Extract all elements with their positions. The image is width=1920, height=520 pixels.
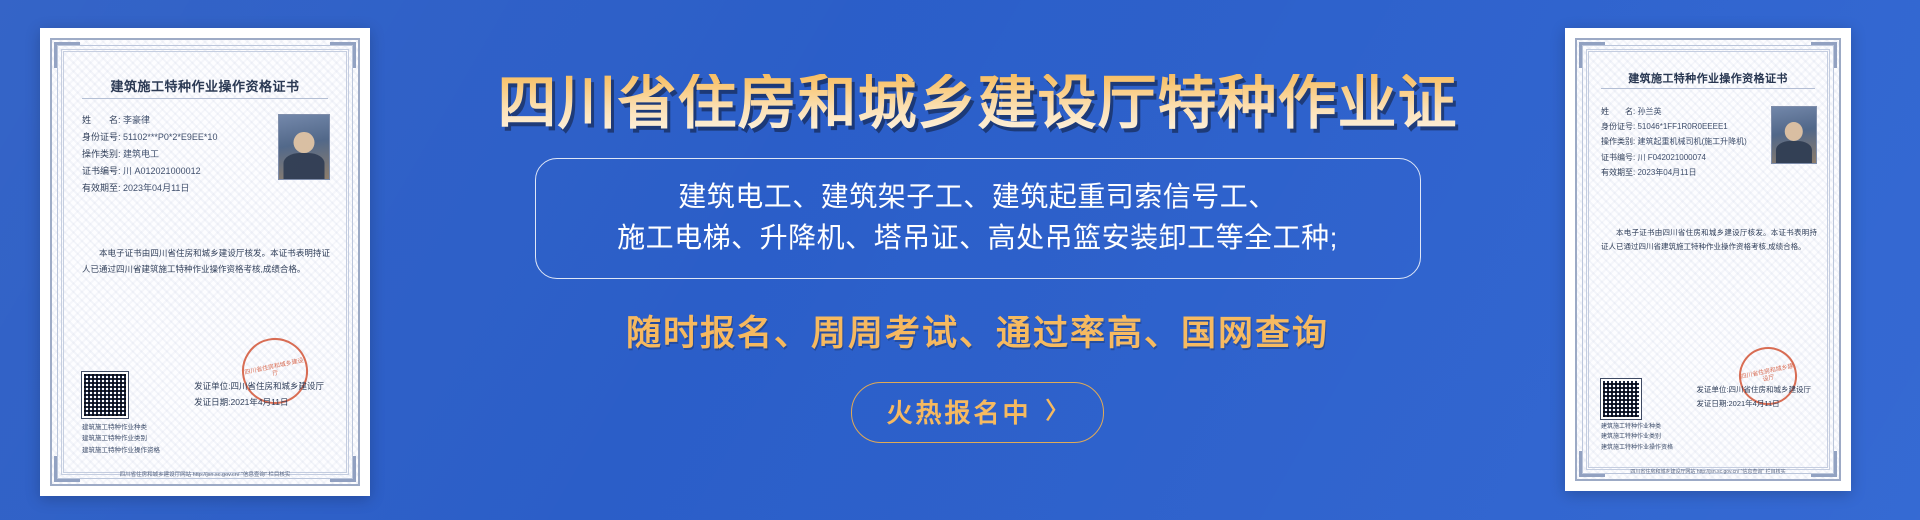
field-row: 有效期至: 2023年04月11日 [1601,165,1747,180]
portrait-photo [1771,106,1817,164]
enroll-now-label: 火热报名中 [886,393,1031,430]
field-row: 操作类别: 建筑起重机械司机(施工升降机) [1601,134,1747,149]
issuer-label: 发证单位: [194,381,230,391]
note-line: 建筑施工特种作业种类 [1601,422,1851,433]
issuer-value: 四川省住房和城乡建设厅 [230,381,324,391]
note-line: 建筑施工特种作业类别 [82,433,370,444]
field-label: 姓 名: [82,115,121,125]
corner-ornament-icon [1579,42,1605,68]
note-line: 建筑施工特种作业操作资格 [82,445,370,456]
issuer-row: 发证单位:四川省住房和城乡建设厅 [1696,383,1811,397]
field-row: 操作类别: 建筑电工 [82,146,217,163]
field-value: 川 A012021000012 [123,166,201,176]
corner-ornament-icon [54,456,80,482]
field-row: 证书编号: 川 F042021000074 [1601,150,1747,165]
field-value: 2023年04月11日 [123,183,189,193]
certificate-footer: 四川省住房和城乡建设厅网站 http://jsn.sc.gov.cn/ "信息查… [1565,468,1851,475]
certificate-body-text: 本电子证书由四川省住房和城乡建设厅核发。本证书表明持证人已通过四川省建筑施工特种… [1601,226,1817,254]
field-value: 51102***P0*2*E9EE*10 [123,132,217,142]
scope-box: 建筑电工、建筑架子工、建筑起重司索信号工、 施工电梯、升降机、塔吊证、高处吊篮安… [535,158,1421,279]
issue-date-row: 发证日期:2021年4月11日 [1696,397,1811,411]
field-label: 操作类别: [82,149,121,159]
qr-code-icon [82,372,128,418]
field-row: 姓 名: 孙兰英 [1601,104,1747,119]
field-label: 有效期至: [1601,168,1635,177]
certificate-fields: 姓 名: 孙兰英 身份证号: 51046*1FF1R0R0EEEE1 操作类别:… [1601,104,1747,180]
divider [82,98,328,99]
enroll-now-button[interactable]: 火热报名中 〉 [851,382,1103,443]
field-value: 川 F042021000074 [1637,153,1706,162]
corner-ornament-icon [330,42,356,68]
field-value: 51046*1FF1R0R0EEEE1 [1637,122,1727,131]
note-line: 建筑施工特种作业种类 [82,422,370,433]
issue-date-value: 2021年4月11日 [230,397,288,407]
field-label: 有效期至: [82,183,121,193]
issuer-label: 发证单位: [1696,385,1728,394]
note-line: 建筑施工特种作业类别 [1601,432,1851,443]
certificate-title: 建筑施工特种作业操作资格证书 [1565,70,1851,86]
corner-ornament-icon [330,456,356,482]
issue-date-label: 发证日期: [1696,399,1728,408]
promotional-banner: 建筑施工特种作业操作资格证书 姓 名: 李豪律 身份证号: 51102***P0… [0,0,1920,520]
corner-ornament-icon [54,42,80,68]
divider [1601,88,1815,89]
scope-line-1: 建筑电工、建筑架子工、建筑起重司索信号工、 [556,176,1400,217]
certificate-card-right: 建筑施工特种作业操作资格证书 姓 名: 孙兰英 身份证号: 51046*1FF1… [1565,28,1851,491]
portrait-photo [278,114,330,180]
scope-line-2: 施工电梯、升降机、塔吊证、高处吊篮安装卸工等全工种; [556,217,1400,258]
chevron-right-icon: 〉 [1046,399,1069,422]
qr-code-icon [1601,379,1641,419]
issuer-row: 发证单位:四川省住房和城乡建设厅 [194,378,324,394]
issue-date-row: 发证日期:2021年4月11日 [194,394,324,410]
field-row: 身份证号: 51046*1FF1R0R0EEEE1 [1601,119,1747,134]
field-row: 姓 名: 李豪律 [82,112,217,129]
field-label: 姓 名: [1601,107,1635,116]
field-value: 李豪律 [123,115,150,125]
field-value: 建筑起重机械司机(施工升降机) [1637,137,1746,146]
note-line: 建筑施工特种作业操作资格 [1601,443,1851,454]
certificate-notes: 建筑施工特种作业种类 建筑施工特种作业类别 建筑施工特种作业操作资格 [82,422,370,456]
issue-date-label: 发证日期: [194,397,230,407]
certificate-fields: 姓 名: 李豪律 身份证号: 51102***P0*2*E9EE*10 操作类别… [82,112,217,197]
banner-content: 四川省住房和城乡建设厅特种作业证 建筑电工、建筑架子工、建筑起重司索信号工、 施… [395,0,1560,520]
certificate-issuer-block: 发证单位:四川省住房和城乡建设厅 发证日期:2021年4月11日 [1696,383,1811,412]
field-value: 建筑电工 [123,149,159,159]
field-label: 身份证号: [82,132,121,142]
certificate-title: 建筑施工特种作业操作资格证书 [40,76,370,95]
certificate-notes: 建筑施工特种作业种类 建筑施工特种作业类别 建筑施工特种作业操作资格 [1601,422,1851,454]
certificate-body-text: 本电子证书由四川省住房和城乡建设厅核发。本证书表明持证人已通过四川省建筑施工特种… [82,246,330,277]
corner-ornament-icon [1811,42,1837,68]
issuer-value: 四川省住房和城乡建设厅 [1729,385,1812,394]
certificate-issuer-block: 发证单位:四川省住房和城乡建设厅 发证日期:2021年4月11日 [194,378,324,410]
slogan-text: 随时报名、周周考试、通过率高、国网查询 [626,305,1329,356]
certificate-card-left: 建筑施工特种作业操作资格证书 姓 名: 李豪律 身份证号: 51102***P0… [40,28,370,496]
certificate-footer: 四川省住房和城乡建设厅网站 http://jsn.sc.gov.cn/ "信息查… [40,470,370,478]
field-label: 证书编号: [1601,153,1635,162]
field-label: 身份证号: [1601,122,1635,131]
field-value: 2023年04月11日 [1637,168,1696,177]
field-row: 有效期至: 2023年04月11日 [82,180,217,197]
field-row: 证书编号: 川 A012021000012 [82,163,217,180]
field-label: 操作类别: [1601,137,1635,146]
field-value: 孙兰英 [1637,107,1661,116]
field-row: 身份证号: 51102***P0*2*E9EE*10 [82,129,217,146]
issue-date-value: 2021年4月11日 [1729,399,1780,408]
field-label: 证书编号: [82,166,121,176]
page-title: 四川省住房和城乡建设厅特种作业证 [497,74,1457,133]
